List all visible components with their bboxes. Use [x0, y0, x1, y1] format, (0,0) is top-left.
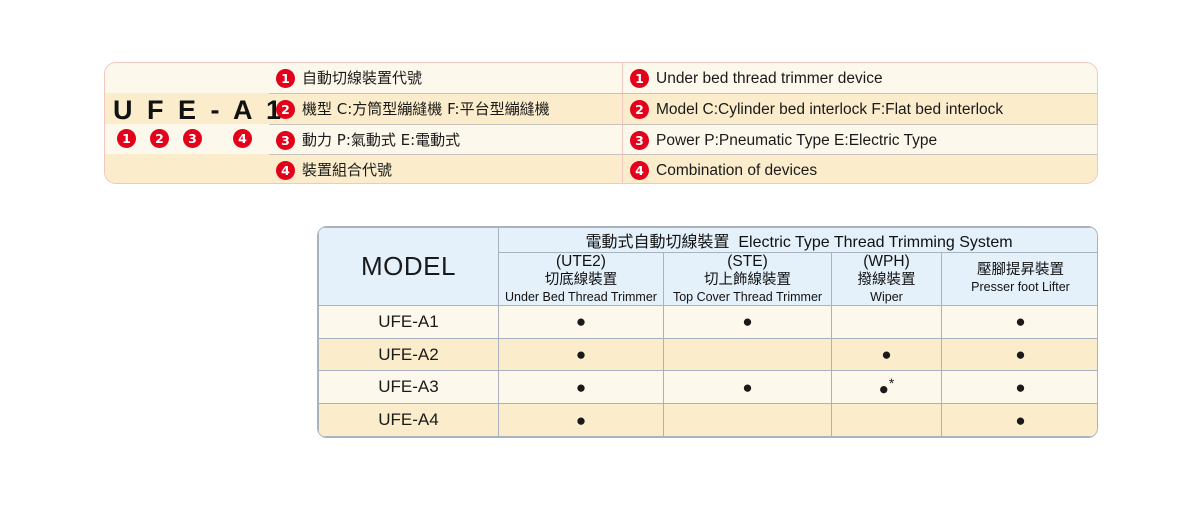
code-marker-2: 2: [150, 129, 169, 148]
code-marker-3: 3: [183, 129, 202, 148]
legend-cell-zh: 2 機型 C:方筒型繃縫機 F:平台型繃縫機: [269, 94, 623, 125]
legend-cell-zh: 3 動力 P:氣動式 E:電動式: [269, 125, 623, 156]
legend-badge-2-en: 2: [630, 100, 649, 119]
row-cell-wph: [832, 404, 942, 437]
code-marker-1: 1: [117, 129, 136, 148]
model-code-markers: 1 2 3 4: [113, 129, 269, 151]
spec-table-element: MODEL 電動式自動切線裝置 Electric Type Thread Tri…: [318, 227, 1098, 437]
row-cell-ste: [664, 338, 832, 371]
model-code-block: U F E - A 1 1 2 3 4: [105, 63, 269, 184]
model-code-legend-panel: U F E - A 1 1 2 3 4 1 自動切線裝置代號 1 Under b…: [104, 62, 1098, 184]
legend-cell-en: 1 Under bed thread trimmer device: [623, 63, 1097, 94]
row-cell-presser: ●: [942, 305, 1099, 338]
column-label-en: Top Cover Thread Trimmer: [664, 290, 831, 305]
legend-cell-zh: 1 自動切線裝置代號: [269, 63, 623, 94]
row-cell-wph: ●*: [832, 371, 942, 404]
legend-badge-3-en: 3: [630, 131, 649, 150]
row-cell-presser: ●: [942, 338, 1099, 371]
column-header-wph: (WPH) 撥線裝置 Wiper: [832, 253, 942, 306]
model-code-text: U F E - A 1: [113, 97, 269, 124]
legend-text-zh: 動力 P:氣動式 E:電動式: [302, 133, 460, 148]
legend-badge-4-en: 4: [630, 161, 649, 180]
row-model: UFE-A4: [319, 404, 499, 437]
legend-text-en: Under bed thread trimmer device: [656, 71, 883, 87]
legend-badge-1-en: 1: [630, 69, 649, 88]
legend-text-en: Combination of devices: [656, 163, 817, 179]
device-combination-table: MODEL 電動式自動切線裝置 Electric Type Thread Tri…: [317, 226, 1098, 438]
column-code: (WPH): [832, 253, 941, 272]
row-model: UFE-A1: [319, 305, 499, 338]
legend-row: 3 動力 P:氣動式 E:電動式 3 Power P:Pneumatic Typ…: [269, 125, 1097, 156]
table-row: UFE-A3 ● ● ●* ●: [319, 371, 1099, 404]
legend-badge-1-zh: 1: [276, 69, 295, 88]
code-marker-4: 4: [233, 129, 252, 148]
legend-text-zh: 裝置組合代號: [302, 163, 392, 178]
row-cell-ste: ●: [664, 371, 832, 404]
row-cell-ute2: ●: [499, 338, 664, 371]
legend-row: 1 自動切線裝置代號 1 Under bed thread trimmer de…: [269, 63, 1097, 94]
table-header-group-row: MODEL 電動式自動切線裝置 Electric Type Thread Tri…: [319, 228, 1099, 253]
row-cell-ute2: ●: [499, 371, 664, 404]
table-row: UFE-A4 ● ●: [319, 404, 1099, 437]
legend-cell-en: 4 Combination of devices: [623, 155, 1097, 184]
row-cell-wph: ●: [832, 338, 942, 371]
column-label-zh: 切上飾線裝置: [664, 272, 831, 290]
legend-text-zh: 機型 C:方筒型繃縫機 F:平台型繃縫機: [302, 102, 550, 117]
row-model: UFE-A3: [319, 371, 499, 404]
column-header-presser-foot-lifter: 壓腳提昇裝置 Presser foot Lifter: [942, 253, 1099, 306]
column-label-en: Wiper: [832, 290, 941, 305]
column-label-zh: 切底線裝置: [499, 272, 663, 290]
column-label-en: Under Bed Thread Trimmer: [499, 290, 663, 305]
group-column-header: 電動式自動切線裝置 Electric Type Thread Trimming …: [499, 228, 1099, 253]
column-code: (UTE2): [499, 253, 663, 272]
legend-row: 2 機型 C:方筒型繃縫機 F:平台型繃縫機 2 Model C:Cylinde…: [269, 94, 1097, 125]
legend-text-en: Power P:Pneumatic Type E:Electric Type: [656, 133, 937, 149]
legend-badge-4-zh: 4: [276, 161, 295, 180]
legend-cell-zh: 4 裝置組合代號: [269, 155, 623, 184]
legend-cell-en: 3 Power P:Pneumatic Type E:Electric Type: [623, 125, 1097, 156]
legend-rows: 1 自動切線裝置代號 1 Under bed thread trimmer de…: [269, 63, 1097, 183]
column-code: (STE): [664, 253, 831, 272]
model-column-header: MODEL: [319, 228, 499, 306]
column-label-zh: 壓腳提昇裝置: [942, 262, 1098, 280]
legend-row: 4 裝置組合代號 4 Combination of devices: [269, 155, 1097, 184]
row-cell-ste: ●: [664, 305, 832, 338]
column-header-ute2: (UTE2) 切底線裝置 Under Bed Thread Trimmer: [499, 253, 664, 306]
group-header-zh: 電動式自動切線裝置: [585, 232, 729, 251]
legend-text-zh: 自動切線裝置代號: [302, 71, 422, 86]
row-cell-presser: ●: [942, 371, 1099, 404]
row-cell-ute2: ●: [499, 404, 664, 437]
row-cell-ute2: ●: [499, 305, 664, 338]
row-model: UFE-A2: [319, 338, 499, 371]
column-label-en: Presser foot Lifter: [942, 280, 1098, 295]
legend-text-en: Model C:Cylinder bed interlock F:Flat be…: [656, 102, 1003, 118]
row-cell-ste: [664, 404, 832, 437]
group-header-en: Electric Type Thread Trimming System: [738, 234, 1012, 251]
column-label-zh: 撥線裝置: [832, 272, 941, 290]
legend-cell-en: 2 Model C:Cylinder bed interlock F:Flat …: [623, 94, 1097, 125]
column-header-ste: (STE) 切上飾線裝置 Top Cover Thread Trimmer: [664, 253, 832, 306]
legend-badge-3-zh: 3: [276, 131, 295, 150]
row-cell-presser: ●: [942, 404, 1099, 437]
row-cell-wph: [832, 305, 942, 338]
table-row: UFE-A2 ● ● ●: [319, 338, 1099, 371]
table-row: UFE-A1 ● ● ●: [319, 305, 1099, 338]
